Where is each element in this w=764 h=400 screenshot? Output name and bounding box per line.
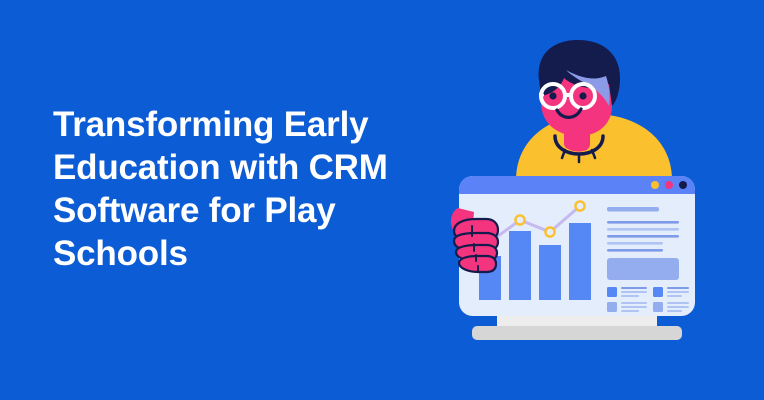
eye-left — [549, 92, 556, 99]
item-line-2 — [621, 291, 647, 293]
trend-marker-2 — [515, 215, 524, 224]
text-line-3 — [607, 235, 679, 238]
dot-yellow-icon — [651, 181, 659, 189]
text-line-5 — [607, 249, 663, 252]
item-line-1 — [621, 287, 647, 289]
laptop-foot — [472, 326, 682, 340]
square-icon — [653, 302, 663, 312]
item-line-3 — [621, 295, 639, 297]
dot-navy-icon — [679, 181, 687, 189]
dot-pink-icon — [665, 181, 673, 189]
blog-banner: Transforming Early Education with CRM So… — [0, 0, 764, 400]
glasses-temple — [541, 94, 542, 95]
item-line-1 — [667, 302, 689, 304]
item-line-2 — [667, 306, 689, 308]
hero-placeholder-block — [607, 258, 679, 280]
trend-marker-3 — [545, 227, 554, 236]
item-line-2 — [667, 291, 689, 293]
heading-placeholder — [607, 207, 659, 212]
bar-2 — [509, 231, 531, 300]
text-line-2 — [607, 228, 679, 231]
page-title: Transforming Early Education with CRM So… — [53, 103, 433, 275]
trend-marker-4 — [575, 201, 584, 210]
item-line-3 — [667, 310, 682, 312]
square-icon — [607, 287, 617, 297]
item-line-1 — [667, 287, 689, 289]
item-line-3 — [621, 310, 639, 312]
item-line-1 — [621, 302, 647, 304]
item-line-3 — [667, 295, 682, 297]
text-line-1 — [607, 221, 679, 224]
character-figure — [516, 40, 672, 190]
square-icon — [607, 302, 617, 312]
square-icon — [653, 287, 663, 297]
text-line-4 — [607, 242, 663, 245]
bar-3 — [539, 245, 561, 300]
browser-titlebar — [459, 176, 695, 194]
bar-4 — [569, 223, 591, 300]
hero-illustration — [440, 40, 764, 370]
eye-right — [579, 92, 586, 99]
item-line-2 — [621, 306, 647, 308]
